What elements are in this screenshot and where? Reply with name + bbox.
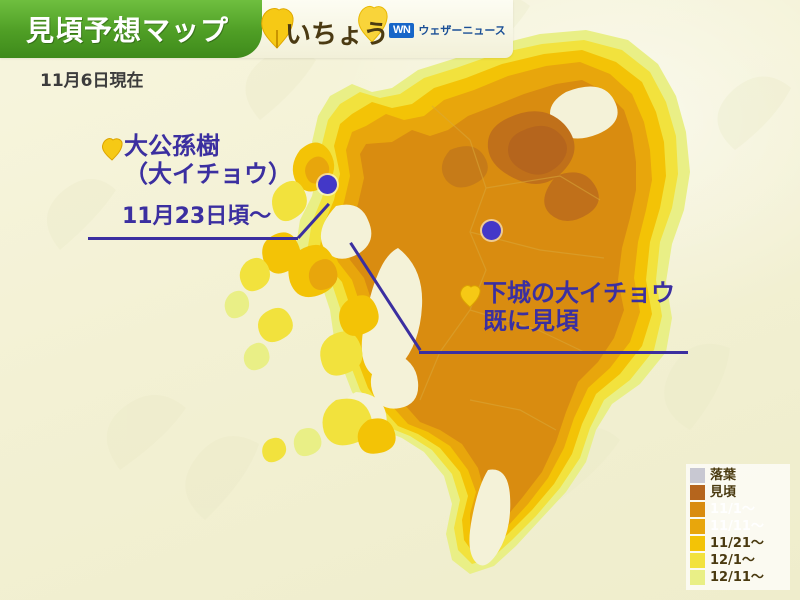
legend-item-4: 11/21～: [690, 535, 786, 552]
legend-label-6: 12/11～: [710, 571, 764, 584]
annotation-ogosonju-line3: 11月23日頃～: [122, 204, 271, 230]
map-screenshot: 見頃予想マップ いちょう WN ウェザーニュース 11月6日現在 大公孫樹 （大…: [0, 0, 800, 600]
legend-label-4: 11/21～: [710, 537, 764, 550]
annotation-shimojo-line2: 既に見頃: [483, 308, 675, 336]
legend-item-6: 12/11～: [690, 569, 786, 586]
legend-item-5: 12/1～: [690, 552, 786, 569]
legend-label-3: 11/11～: [710, 520, 764, 533]
annotation-ogosonju-underline: [88, 237, 298, 240]
map-marker-shimojo[interactable]: [482, 221, 501, 240]
legend-item-1: 見頃: [690, 484, 786, 501]
wn-logo-mark: WN: [389, 23, 414, 38]
annotation-ogosonju: 大公孫樹 （大イチョウ）: [124, 133, 292, 188]
legend-label-2: 11/1～: [710, 503, 755, 516]
annotation-ogosonju-line2: （大イチョウ）: [124, 161, 292, 189]
color-legend: 落葉 見頃 11/1～ 11/11～ 11/21～ 12/1～ 12/11～: [686, 464, 790, 590]
annotation-shimojo-underline: [419, 351, 688, 354]
legend-label-0: 落葉: [710, 469, 736, 482]
legend-swatch-6: [690, 570, 705, 585]
wn-logo-text: ウェザーニュース: [418, 22, 505, 38]
as-of-date: 11月6日現在: [40, 66, 144, 91]
legend-label-1: 見頃: [710, 486, 736, 499]
legend-swatch-4: [690, 536, 705, 551]
annotation-ogosonju-date: 11月23日頃～: [122, 204, 271, 230]
ginkgo-leaf-icon-annot2: [458, 283, 482, 314]
annotation-shimojo-line1: 下城の大イチョウ: [483, 280, 675, 308]
legend-item-2: 11/1～: [690, 501, 786, 518]
page-subtitle: いちょう: [285, 14, 389, 51]
legend-swatch-5: [690, 553, 705, 568]
legend-item-3: 11/11～: [690, 518, 786, 535]
ginkgo-leaf-icon-annot1: [100, 136, 124, 167]
legend-swatch-0: [690, 468, 705, 483]
legend-item-0: 落葉: [690, 467, 786, 484]
legend-label-5: 12/1～: [710, 554, 755, 567]
map-marker-ogosonju[interactable]: [318, 175, 337, 194]
page-title: 見頃予想マップ: [26, 9, 229, 49]
annotation-shimojo: 下城の大イチョウ 既に見頃: [483, 280, 675, 335]
legend-swatch-3: [690, 519, 705, 534]
legend-swatch-2: [690, 502, 705, 517]
legend-swatch-1: [690, 485, 705, 500]
weathernews-logo: WN ウェザーニュース: [389, 22, 506, 38]
annotation-ogosonju-line1: 大公孫樹: [124, 133, 292, 161]
